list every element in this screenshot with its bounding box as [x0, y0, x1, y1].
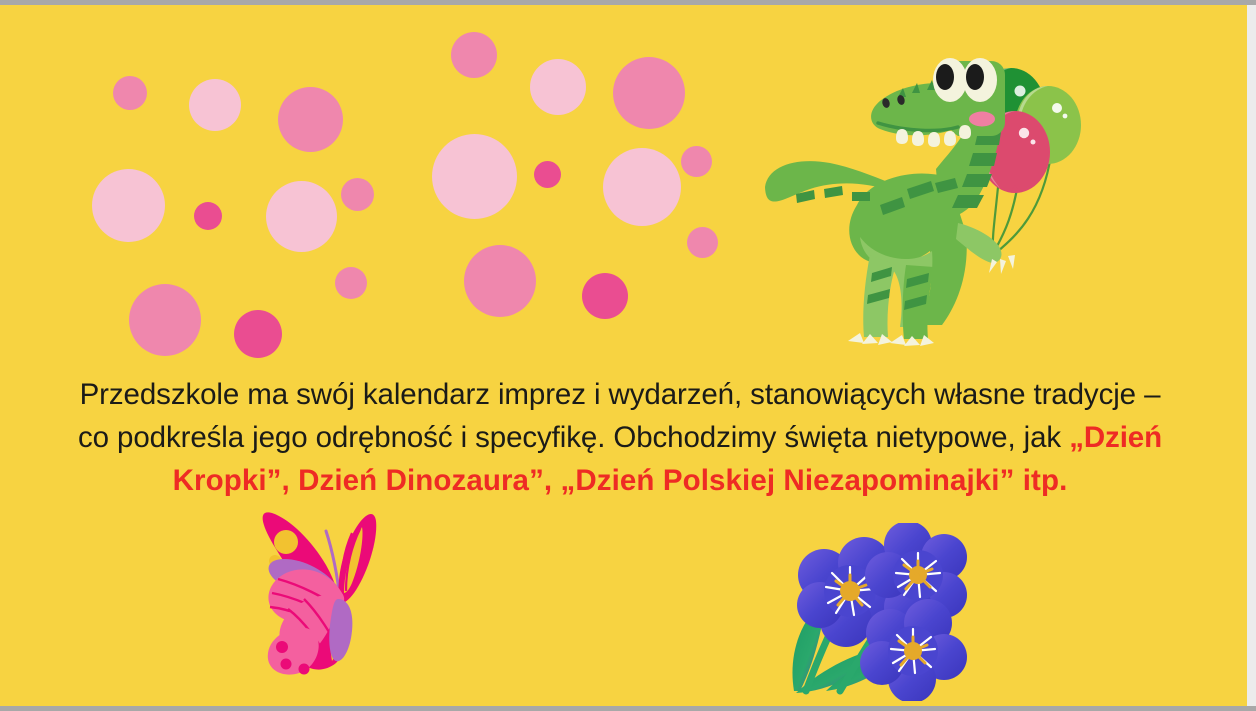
text-line-2-red: „Dzień — [1069, 421, 1162, 454]
text-line-3: Kropki”, Dzień Dinozaura”, „Dzień Polski… — [0, 459, 1240, 502]
slide-canvas: Przedszkole ma swój kalendarz imprez i w… — [0, 0, 1256, 711]
butterfly-illustration — [212, 501, 400, 681]
decorative-dot — [113, 76, 147, 110]
decorative-dot — [432, 134, 517, 219]
decorative-dot — [234, 310, 282, 358]
decorative-dot — [451, 32, 497, 78]
decorative-dot — [464, 245, 536, 317]
decorative-dot — [194, 202, 222, 230]
decorative-dot — [613, 57, 685, 129]
decorative-dot — [582, 273, 628, 319]
decorative-dot — [341, 178, 374, 211]
decorative-dot — [129, 284, 201, 356]
decorative-dot — [681, 146, 712, 177]
decorative-dot — [92, 169, 165, 242]
dinosaur-with-balloons-illustration — [752, 37, 1082, 363]
decorative-dot — [335, 267, 367, 299]
decorative-dot — [266, 181, 337, 252]
forget-me-not-flowers-illustration — [782, 523, 968, 701]
body-text: Przedszkole ma swój kalendarz imprez i w… — [0, 373, 1240, 502]
text-line-1: Przedszkole ma swój kalendarz imprez i w… — [0, 373, 1240, 416]
decorative-dot — [278, 87, 343, 152]
decorative-dot — [189, 79, 241, 131]
decorative-dot — [534, 161, 561, 188]
text-line-2: co podkreśla jego odrębność i specyfikę.… — [0, 416, 1240, 459]
dino-cheek — [969, 112, 995, 127]
right-gutter — [1247, 5, 1256, 706]
text-line-2-black: co podkreśla jego odrębność i specyfikę.… — [78, 421, 1069, 454]
decorative-dot — [603, 148, 681, 226]
decorative-dot — [687, 227, 718, 258]
decorative-dot — [530, 59, 586, 115]
